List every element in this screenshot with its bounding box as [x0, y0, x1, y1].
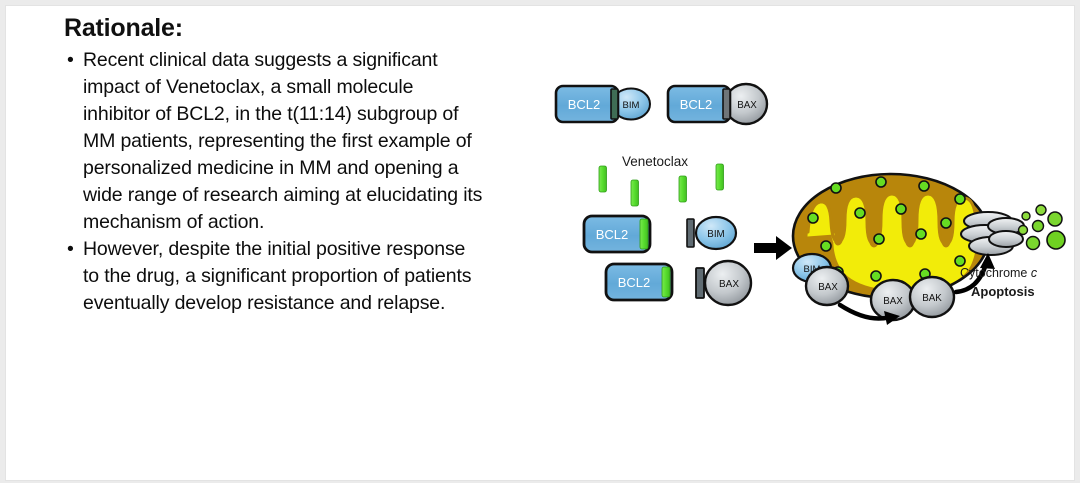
- bullet-list: • Recent clinical data suggests a signif…: [64, 47, 484, 317]
- cytochrome-c-dot: [808, 213, 818, 223]
- cytochrome-c-dot: [831, 183, 841, 193]
- cytochrome-c-dot: [955, 194, 965, 204]
- bcl2-groove: [723, 89, 730, 119]
- membrane-pore: [961, 212, 1024, 255]
- bim-oval-label: BIM: [707, 229, 724, 240]
- apoptosis-label: Apoptosis: [971, 284, 1035, 299]
- cytochrome-c-dot: [955, 256, 965, 266]
- bullet-text: Recent clinical data suggests a signific…: [83, 49, 482, 233]
- cytochrome-c-dot: [874, 234, 884, 244]
- pore-disc: [989, 231, 1023, 247]
- cytochrome-c-dot: [855, 208, 865, 218]
- venetoclax-mechanism-figure: BIM BCL2 BAX BCL2: [536, 76, 1066, 336]
- venetoclax-bar: [599, 166, 607, 192]
- bak-oval-label: BAK: [922, 293, 942, 304]
- bax-oval-label: BAX: [737, 100, 757, 111]
- bcl2-groove: [611, 89, 618, 119]
- list-item: • However, despite the initial positive …: [64, 236, 484, 317]
- cytochrome-c-dot: [941, 218, 951, 228]
- complex-bcl2-bax: BAX BCL2: [668, 84, 767, 124]
- cytochrome-c-dot: [1019, 226, 1028, 235]
- bullet-marker-icon: •: [67, 236, 74, 263]
- bullet-marker-icon: •: [67, 47, 74, 74]
- arrow-shape: [754, 236, 792, 260]
- cytochrome-c-dot: [1036, 205, 1046, 215]
- cytochrome-c-label-italic: c: [1031, 266, 1037, 280]
- cytochrome-c-dot: [916, 229, 926, 239]
- cytochrome-c-dot: [919, 181, 929, 191]
- bullet-text: However, despite the initial positive re…: [83, 238, 471, 314]
- cytochrome-c-dot: [871, 271, 881, 281]
- venetoclax-bar: [716, 164, 724, 190]
- slide-canvas: Rationale: • Recent clinical data sugges…: [6, 6, 1074, 480]
- process-arrow-icon: [754, 236, 792, 260]
- cytochrome-c-dot: [1027, 237, 1040, 250]
- venetoclax-bar-bound: [662, 267, 670, 297]
- bcl2-box-label: BCL2: [680, 97, 713, 112]
- venetoclax-molecules: [599, 164, 724, 206]
- released-cytochrome-c: [1019, 205, 1066, 250]
- bax-oval-label: BAX: [719, 279, 739, 290]
- cytochrome-c-dot: [1033, 221, 1044, 232]
- venetoclax-bar: [631, 180, 639, 206]
- list-item: • Recent clinical data suggests a signif…: [64, 47, 484, 236]
- slide-text-column: Rationale: • Recent clinical data sugges…: [64, 14, 484, 317]
- bim-oval-label: BIM: [623, 100, 640, 111]
- bim-bh3-domain: [687, 219, 694, 247]
- cytochrome-c-label-text: Cytochrome: [960, 266, 1031, 280]
- cytochrome-c-dot: [1048, 212, 1062, 226]
- bax-oval-label: BAX: [883, 296, 903, 307]
- cytochrome-c-dot: [821, 241, 831, 251]
- page-title: Rationale:: [64, 14, 484, 44]
- bcl2-box-label: BCL2: [568, 97, 601, 112]
- cytochrome-c-label: Cytochrome c: [960, 266, 1037, 280]
- bax-oval-label: BAX: [818, 282, 838, 293]
- blocked-bcl2-bim-row: BCL2 BIM: [584, 216, 736, 252]
- bcl2-box-label: BCL2: [618, 275, 651, 290]
- complex-bcl2-bim: BIM BCL2: [556, 86, 650, 122]
- bax-bh3-domain: [696, 268, 704, 298]
- blocked-bcl2-bax-row: BCL2 BAX: [606, 261, 751, 305]
- cytochrome-c-dot: [896, 204, 906, 214]
- venetoclax-label: Venetoclax: [622, 154, 688, 169]
- cytochrome-c-dot: [1022, 212, 1030, 220]
- venetoclax-bar: [679, 176, 687, 202]
- cytochrome-c-dot: [1047, 231, 1065, 249]
- venetoclax-bar-bound: [640, 219, 648, 249]
- cytochrome-c-dot: [876, 177, 886, 187]
- bcl2-box-label: BCL2: [596, 227, 629, 242]
